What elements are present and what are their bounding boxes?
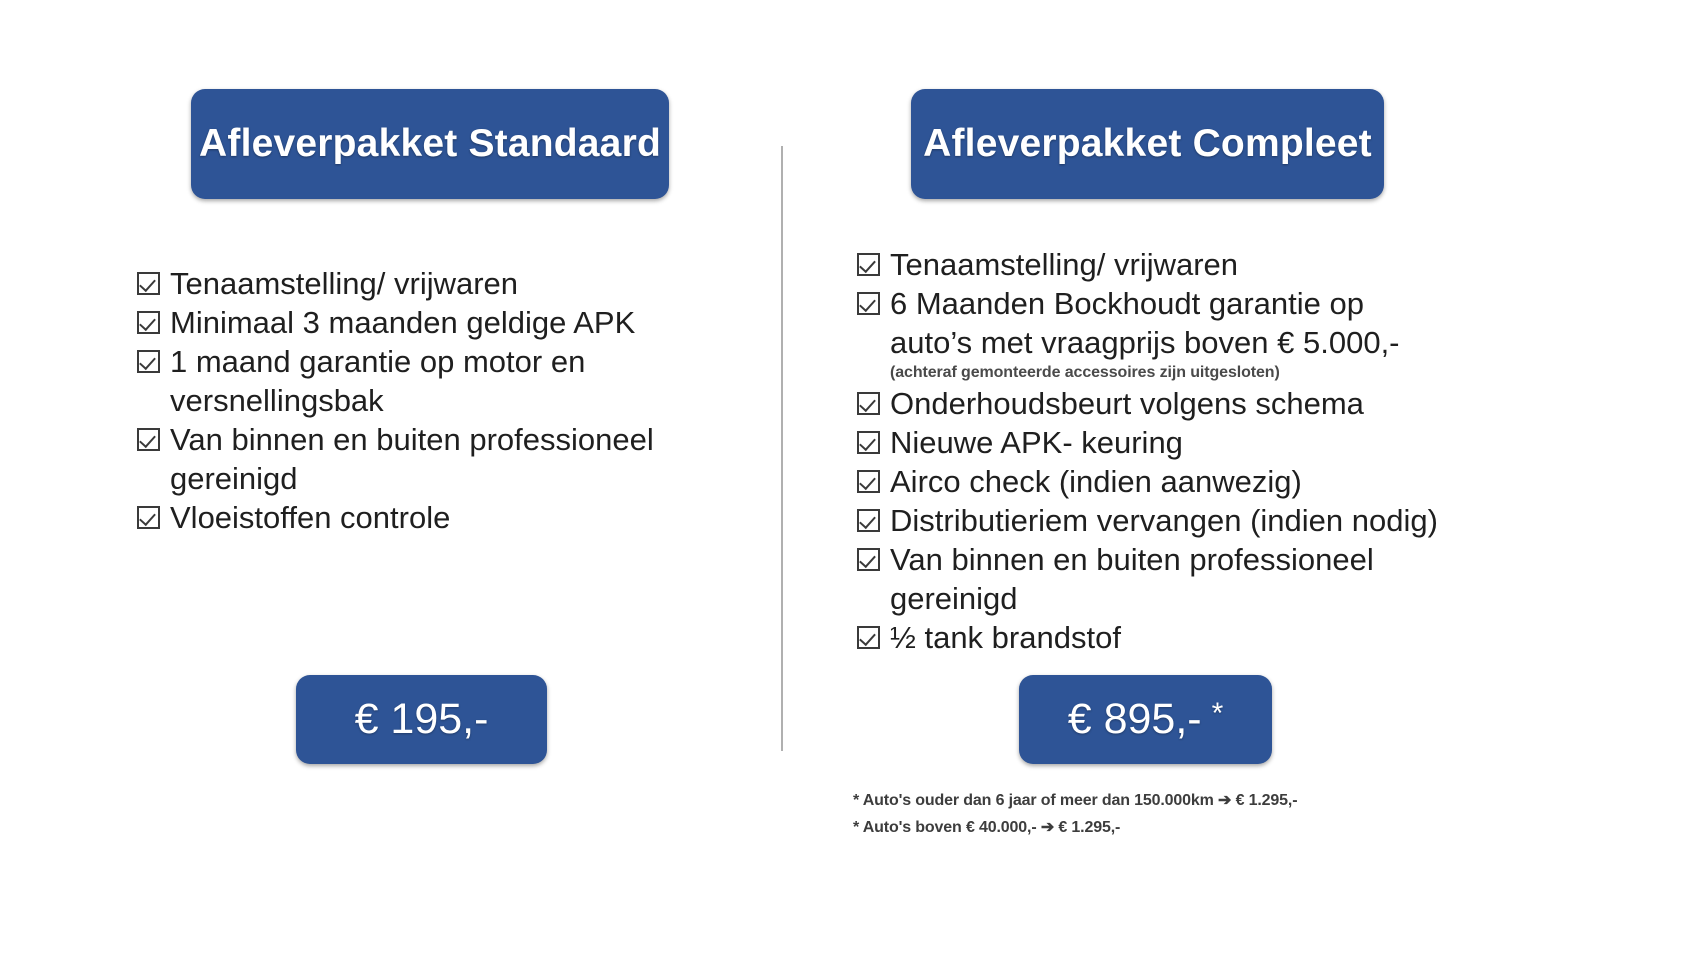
- footnote-line: * Auto's ouder dan 6 jaar of meer dan 15…: [853, 787, 1553, 814]
- list-item: Van binnen en buiten professioneel gerei…: [137, 420, 737, 498]
- footnote-line: * Auto's boven € 40.000,- ➔ € 1.295,-: [853, 814, 1553, 841]
- list-item: Vloeistoffen controle: [137, 498, 737, 537]
- feature-text: ½ tank brandstof: [890, 618, 1477, 657]
- checked-checkbox-icon: [857, 626, 880, 649]
- checked-checkbox-icon: [857, 509, 880, 532]
- price-asterisk-marker: *: [1212, 697, 1224, 731]
- footnote-block: * Auto's ouder dan 6 jaar of meer dan 15…: [853, 787, 1553, 841]
- feature-text: 6 Maanden Bockhoudt garantie op auto’s m…: [890, 284, 1477, 362]
- package-title-compleet: Afleverpakket Compleet: [923, 122, 1372, 166]
- list-item: Minimaal 3 maanden geldige APK: [137, 303, 737, 342]
- package-header-compleet: Afleverpakket Compleet: [911, 89, 1384, 199]
- checked-checkbox-icon: [857, 431, 880, 454]
- feature-text: Onderhoudsbeurt volgens schema: [890, 384, 1477, 423]
- checked-checkbox-icon: [137, 311, 160, 334]
- checked-checkbox-icon: [137, 428, 160, 451]
- checked-checkbox-icon: [857, 253, 880, 276]
- checked-checkbox-icon: [137, 272, 160, 295]
- list-item: Airco check (indien aanwezig): [857, 462, 1477, 501]
- feature-text: Distributieriem vervangen (indien nodig): [890, 501, 1477, 540]
- checked-checkbox-icon: [857, 392, 880, 415]
- price-value-compleet: € 895,-: [1068, 695, 1202, 744]
- column-divider: [781, 146, 783, 751]
- feature-text: Tenaamstelling/ vrijwaren: [890, 245, 1477, 284]
- list-item: Tenaamstelling/ vrijwaren: [137, 264, 737, 303]
- list-item: Van binnen en buiten professioneel gerei…: [857, 540, 1477, 618]
- feature-text: Van binnen en buiten professioneel gerei…: [890, 540, 1477, 618]
- feature-list-standaard: Tenaamstelling/ vrijwaren Minimaal 3 maa…: [137, 264, 737, 537]
- price-value-standaard: € 195,-: [355, 695, 489, 744]
- feature-text: 1 maand garantie op motor en versnelling…: [170, 342, 737, 420]
- list-item: 6 Maanden Bockhoudt garantie op auto’s m…: [857, 284, 1477, 362]
- feature-text: Nieuwe APK- keuring: [890, 423, 1477, 462]
- checked-checkbox-icon: [137, 350, 160, 373]
- list-item: 1 maand garantie op motor en versnelling…: [137, 342, 737, 420]
- package-title-standaard: Afleverpakket Standaard: [199, 122, 661, 166]
- slide-canvas: Afleverpakket Standaard Afleverpakket Co…: [0, 0, 1707, 960]
- list-item: ½ tank brandstof: [857, 618, 1477, 657]
- feature-text: Minimaal 3 maanden geldige APK: [170, 303, 737, 342]
- package-header-standaard: Afleverpakket Standaard: [191, 89, 669, 199]
- feature-list-compleet: Tenaamstelling/ vrijwaren 6 Maanden Bock…: [857, 245, 1477, 657]
- list-item: Tenaamstelling/ vrijwaren: [857, 245, 1477, 284]
- feature-text: Airco check (indien aanwezig): [890, 462, 1477, 501]
- list-item: Distributieriem vervangen (indien nodig): [857, 501, 1477, 540]
- price-badge-standaard: € 195,-: [296, 675, 547, 764]
- feature-text: Vloeistoffen controle: [170, 498, 737, 537]
- checked-checkbox-icon: [857, 548, 880, 571]
- list-item: Nieuwe APK- keuring: [857, 423, 1477, 462]
- checked-checkbox-icon: [137, 506, 160, 529]
- price-badge-compleet: € 895,- *: [1019, 675, 1272, 764]
- checked-checkbox-icon: [857, 470, 880, 493]
- feature-text: Van binnen en buiten professioneel gerei…: [170, 420, 737, 498]
- list-item: Onderhoudsbeurt volgens schema: [857, 384, 1477, 423]
- feature-footnote-accessoires: (achteraf gemonteerde accessoires zijn u…: [857, 362, 1477, 384]
- feature-text: Tenaamstelling/ vrijwaren: [170, 264, 737, 303]
- checked-checkbox-icon: [857, 292, 880, 315]
